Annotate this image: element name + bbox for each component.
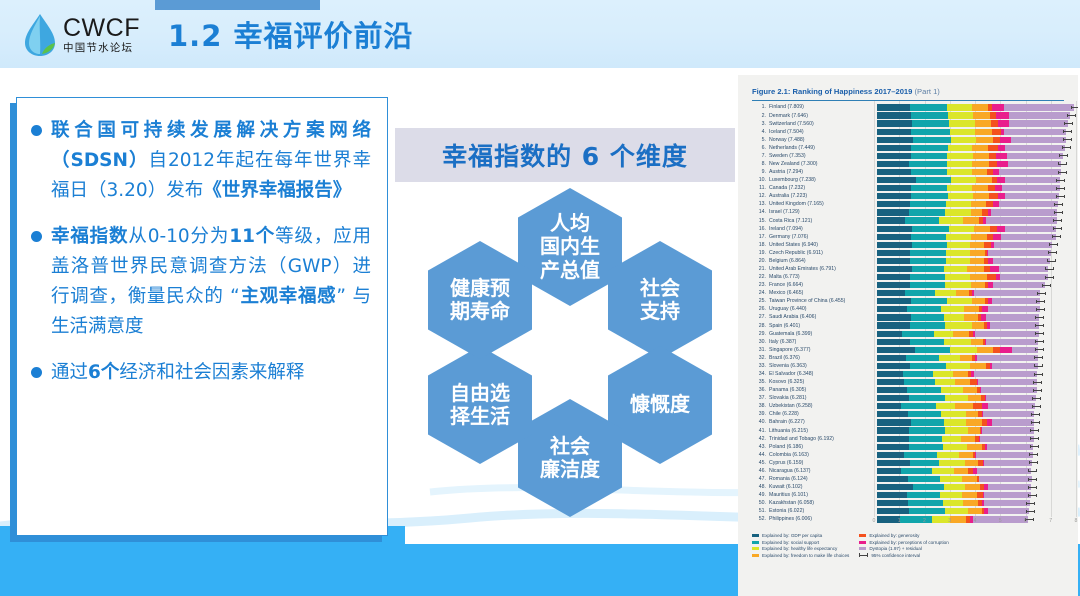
bar-segment	[911, 129, 950, 135]
hex-generosity-label: 慷慨度	[630, 393, 690, 416]
bar-segment	[941, 411, 966, 417]
bar-segment	[937, 452, 958, 458]
row-country-label: France (6.664)	[769, 282, 877, 288]
row-rank: 28.	[752, 323, 769, 329]
row-bar	[877, 339, 1064, 345]
bar-segment	[913, 484, 945, 490]
bar-segment	[877, 347, 915, 353]
bar-segment	[947, 153, 973, 159]
chart-row: 13.United Kingdom (7.165)	[752, 200, 1064, 208]
bar-segment	[988, 403, 1035, 409]
bar-segment	[877, 355, 906, 361]
happiness-chart-panel: Figure 2.1: Ranking of Happiness 2017–20…	[738, 75, 1078, 596]
legend-item-ci: 95% confidence interval	[859, 553, 948, 558]
row-rank: 2.	[752, 113, 769, 119]
chart-row: 44.Colombia (6.163)	[752, 451, 1064, 459]
bar-segment	[944, 484, 965, 490]
confidence-interval-marker	[1028, 469, 1037, 472]
row-rank: 17.	[752, 234, 769, 240]
row-country-label: Kazakhstan (6.058)	[769, 500, 877, 506]
bar-segment	[947, 298, 972, 304]
bar-segment	[911, 185, 947, 191]
bar-segment	[955, 379, 970, 385]
chart-legend-column-2: Explained by: generosityExplained by: pe…	[859, 533, 948, 558]
chart-row: 28.Spain (6.401)	[752, 322, 1064, 330]
row-rank: 13.	[752, 201, 769, 207]
bar-segment	[974, 371, 1038, 377]
legend-item: Explained by: healthy life expectancy	[752, 546, 849, 551]
bar-segment	[977, 355, 1038, 361]
row-country-label: Bahrain (6.227)	[769, 419, 877, 425]
row-country-label: Colombia (6.163)	[769, 452, 877, 458]
bar-segment	[972, 298, 985, 304]
bar-segment	[944, 266, 966, 272]
confidence-interval-marker	[1031, 421, 1040, 424]
row-rank: 48.	[752, 484, 769, 490]
bar-segment	[959, 452, 973, 458]
bar-segment	[877, 274, 910, 280]
bar-segment	[989, 161, 997, 167]
chart-plot-area: 1.Finland (7.809)2.Denmark (7.646)3.Swit…	[752, 101, 1064, 531]
chart-row: 49.Mauritius (6.101)	[752, 491, 1064, 499]
bar-segment	[877, 169, 911, 175]
bar-segment	[908, 411, 942, 417]
bar-segment	[909, 427, 945, 433]
row-country-label: Mexico (6.465)	[769, 290, 877, 296]
bar-segment	[905, 290, 935, 296]
confidence-interval-marker	[1028, 478, 1037, 481]
cwcf-logo: CWCF 中国节水论坛	[22, 10, 162, 60]
bar-segment	[962, 492, 977, 498]
bar-segment	[968, 395, 981, 401]
bar-segment	[877, 266, 912, 272]
bar-segment	[970, 274, 986, 280]
confidence-interval-marker	[1026, 502, 1035, 505]
bar-segment	[951, 137, 976, 143]
row-rank: 33.	[752, 363, 769, 369]
confidence-interval-marker	[1035, 340, 1044, 343]
chart-row: 11.Canada (7.232)	[752, 184, 1064, 192]
legend-label: Explained by: freedom to make life choic…	[762, 553, 849, 558]
bar-segment	[987, 274, 996, 280]
bar-segment	[999, 201, 1058, 207]
chart-row: 30.Italy (6.387)	[752, 338, 1064, 346]
confidence-interval-marker	[1063, 138, 1072, 141]
row-rank: 37.	[752, 395, 769, 401]
row-country-label: Taiwan Province of China (6.455)	[769, 298, 877, 304]
bar-segment	[971, 282, 985, 288]
bar-segment	[997, 177, 1005, 183]
bar-segment	[991, 120, 998, 126]
chart-row: 21.United Arab Emirates (6.791)	[752, 265, 1064, 273]
bar-segment	[1004, 104, 1074, 110]
bar-segment	[877, 468, 901, 474]
logo-subtitle: 中国节水论坛	[63, 43, 140, 54]
row-bar	[877, 314, 1064, 320]
bar-segment	[910, 274, 945, 280]
confidence-interval-marker	[1035, 324, 1044, 327]
row-rank: 29.	[752, 331, 769, 337]
row-rank: 31.	[752, 347, 769, 353]
chart-row: 24.Mexico (6.465)	[752, 289, 1064, 297]
hex-freedom[interactable]: 自由选择生活	[428, 346, 532, 464]
bar-segment	[1011, 137, 1066, 143]
row-bar	[877, 274, 1064, 280]
logo-text-block: CWCF 中国节水论坛	[63, 16, 140, 54]
bar-segment	[946, 234, 971, 240]
row-rank: 41.	[752, 428, 769, 434]
row-country-label: Austria (7.294)	[769, 169, 877, 175]
bar-segment	[909, 209, 944, 215]
chart-row: 17.Germany (7.076)	[752, 233, 1064, 241]
row-bar	[877, 201, 1064, 207]
chart-row: 42.Trinidad and Tobago (6.192)	[752, 435, 1064, 443]
bar-segment	[877, 339, 910, 345]
confidence-interval-marker	[1063, 130, 1072, 133]
confidence-interval-marker	[1049, 243, 1058, 246]
row-bar	[877, 282, 1064, 288]
row-country-label: Singapore (6.377)	[769, 347, 877, 353]
bar-segment	[992, 363, 1038, 369]
bar-segment	[904, 452, 937, 458]
row-bar	[877, 403, 1064, 409]
row-bar	[877, 444, 1064, 450]
legend-item: Explained by: freedom to make life choic…	[752, 553, 849, 558]
bar-segment	[877, 258, 910, 264]
bar-segment	[963, 500, 978, 506]
bar-segment	[971, 209, 983, 215]
bar-segment	[964, 314, 978, 320]
hex-health[interactable]: 健康预期寿命	[428, 241, 532, 359]
row-country-label: Ireland (7.094)	[769, 226, 877, 232]
bar-segment	[912, 120, 949, 126]
bar-segment	[911, 234, 946, 240]
bar-segment	[877, 387, 907, 393]
bar-segment	[986, 395, 1035, 401]
bar-segment	[940, 492, 962, 498]
row-country-label: Canada (7.232)	[769, 185, 877, 191]
bar-segment	[984, 500, 1030, 506]
row-rank: 50.	[752, 500, 769, 506]
bar-segment	[973, 153, 990, 159]
bar-segment	[968, 427, 980, 433]
row-rank: 32.	[752, 355, 769, 361]
bar-segment	[948, 193, 974, 199]
bullet-dot-icon	[31, 367, 42, 378]
chart-title-part: (Part 1)	[915, 87, 940, 96]
bar-segment	[965, 484, 979, 490]
hex-health-label: 健康预期寿命	[450, 277, 510, 323]
confidence-interval-marker	[1028, 486, 1037, 489]
bar-segment	[971, 234, 986, 240]
bar-segment	[911, 153, 948, 159]
bar-segment	[993, 234, 1001, 240]
bar-segment	[992, 104, 1004, 110]
confidence-interval-marker	[1056, 187, 1065, 190]
row-country-label: Luxembourg (7.238)	[769, 177, 877, 183]
bar-segment	[976, 452, 1033, 458]
row-rank: 40.	[752, 419, 769, 425]
hex-social[interactable]: 社会支持	[608, 241, 712, 359]
bar-segment	[995, 185, 1002, 191]
row-rank: 45.	[752, 460, 769, 466]
bullet-sdsn-text: 联合国可持续发展解决方案网络（SDSN）自2012年起在每年世界幸福日（3.20…	[51, 116, 371, 206]
bar-segment	[950, 347, 977, 353]
hex-gdp[interactable]: 人均国内生产总值	[518, 188, 622, 306]
bar-segment	[977, 347, 993, 353]
row-rank: 16.	[752, 226, 769, 232]
bar-segment	[998, 193, 1006, 199]
bar-segment	[991, 209, 1057, 215]
legend-item: Explained by: GDP per capita	[752, 533, 849, 538]
confidence-interval-marker	[1036, 308, 1045, 311]
chart-row: 3.Switzerland (7.560)	[752, 120, 1064, 128]
bar-segment	[877, 322, 910, 328]
bar-segment	[877, 452, 904, 458]
bar-segment	[944, 314, 964, 320]
bar-segment	[948, 145, 973, 151]
bar-segment	[973, 193, 989, 199]
row-rank: 49.	[752, 492, 769, 498]
bar-segment	[986, 314, 1039, 320]
row-country-label: Philippines (6.006)	[769, 516, 877, 522]
legend-label: Dystopia (1.97) + residual	[869, 546, 921, 551]
bar-segment	[877, 331, 902, 337]
row-bar	[877, 234, 1064, 240]
confidence-interval-marker	[1034, 356, 1043, 359]
bar-segment	[988, 484, 1031, 490]
bar-segment	[945, 427, 967, 433]
legend-label: Explained by: social support	[762, 540, 819, 545]
bullet-factors: 通过6个经济和社会因素来解释	[31, 358, 371, 388]
legend-ci-swatch	[859, 553, 868, 557]
bar-segment	[877, 193, 911, 199]
row-rank: 39.	[752, 411, 769, 417]
row-bar	[877, 137, 1066, 143]
bar-segment	[877, 242, 912, 248]
chart-row: 36.Panama (6.305)	[752, 386, 1064, 394]
bar-segment	[877, 104, 910, 110]
row-bar	[877, 371, 1064, 377]
row-rank: 38.	[752, 403, 769, 409]
bar-segment	[988, 185, 995, 191]
chart-legend-column-1: Explained by: GDP per capitaExplained by…	[752, 533, 849, 558]
chart-x-axis: 012345678	[874, 518, 1064, 531]
hex-panel-heading-text: 幸福指数的 6 个维度	[442, 137, 688, 173]
row-bar	[877, 161, 1064, 167]
row-bar	[877, 298, 1064, 304]
bar-segment	[877, 395, 909, 401]
row-country-label: Chile (6.228)	[769, 411, 877, 417]
row-bar	[877, 379, 1064, 385]
row-bar	[877, 242, 1064, 248]
row-bar	[877, 120, 1068, 126]
bar-segment	[972, 322, 984, 328]
bar-segment	[908, 500, 944, 506]
row-bar	[877, 508, 1064, 514]
row-country-label: New Zealand (7.300)	[769, 161, 877, 167]
row-rank: 30.	[752, 339, 769, 345]
bar-segment	[910, 258, 945, 264]
row-bar	[877, 169, 1064, 175]
bar-segment	[961, 436, 975, 442]
bar-segment	[988, 145, 997, 151]
row-country-label: Iceland (7.504)	[769, 129, 877, 135]
row-bar	[877, 460, 1064, 466]
chart-row: 50.Kazakhstan (6.058)	[752, 499, 1064, 507]
row-rank: 15.	[752, 218, 769, 224]
bar-segment	[997, 161, 1008, 167]
bar-segment	[877, 508, 909, 514]
bar-segment	[972, 104, 989, 110]
row-country-label: El Salvador (6.348)	[769, 371, 877, 377]
chart-row: 46.Nicaragua (6.137)	[752, 467, 1064, 475]
bar-segment	[877, 185, 911, 191]
bar-segment	[911, 193, 948, 199]
bar-segment	[982, 427, 1034, 433]
confidence-interval-marker	[1062, 146, 1071, 149]
row-bar	[877, 484, 1064, 490]
bar-segment	[909, 395, 945, 401]
bar-segment	[916, 177, 951, 183]
legend-swatch	[859, 541, 866, 544]
bar-segment	[877, 129, 911, 135]
bar-segment	[935, 379, 955, 385]
row-country-label: Cyprus (6.159)	[769, 460, 877, 466]
bar-segment	[972, 169, 987, 175]
bar-segment	[1005, 193, 1059, 199]
bar-segment	[976, 137, 993, 143]
bar-segment	[986, 201, 993, 207]
confidence-interval-marker	[1042, 284, 1051, 287]
x-tick-label: 5	[999, 518, 1002, 524]
row-country-label: Netherlands (7.449)	[769, 145, 877, 151]
bar-segment	[915, 347, 950, 353]
legend-item: Explained by: social support	[752, 540, 849, 545]
bar-segment	[945, 274, 971, 280]
row-bar	[877, 226, 1064, 232]
x-tick-label: 6	[1024, 518, 1027, 524]
confidence-interval-marker	[1030, 445, 1039, 448]
bar-segment	[963, 217, 979, 223]
legend-swatch	[859, 547, 866, 550]
chart-row: 48.Kuwait (6.102)	[752, 483, 1064, 491]
bullet-list: 联合国可持续发展解决方案网络（SDSN）自2012年起在每年世界幸福日（3.20…	[31, 116, 371, 388]
row-bar	[877, 185, 1064, 191]
bar-segment	[975, 129, 992, 135]
row-country-label: Finland (7.809)	[769, 104, 877, 110]
chart-row: 15.Costa Rica (7.121)	[752, 216, 1064, 224]
bar-segment	[1005, 145, 1065, 151]
bar-segment	[980, 436, 1034, 442]
bar-segment	[910, 201, 946, 207]
row-rank: 11.	[752, 185, 769, 191]
chart-row: 5.Norway (7.488)	[752, 136, 1064, 144]
bar-segment	[970, 250, 984, 256]
bar-segment	[976, 177, 992, 183]
row-country-label: Trinidad and Tobago (6.192)	[769, 436, 877, 442]
bar-segment	[990, 322, 1039, 328]
confidence-interval-marker	[1026, 510, 1035, 513]
bar-segment	[997, 226, 1005, 232]
hex-corruption[interactable]: 社会廉洁度	[518, 399, 622, 517]
confidence-interval-marker	[1045, 267, 1054, 270]
bar-segment	[962, 476, 977, 482]
row-rank: 19.	[752, 250, 769, 256]
row-country-label: Norway (7.488)	[769, 137, 877, 143]
confidence-interval-marker	[1048, 251, 1057, 254]
bar-segment	[984, 242, 991, 248]
row-bar	[877, 387, 1064, 393]
bar-segment	[909, 161, 947, 167]
confidence-interval-marker	[1059, 154, 1068, 157]
bar-segment	[910, 322, 946, 328]
bar-segment	[966, 419, 982, 425]
bar-segment	[943, 444, 967, 450]
bar-segment	[1002, 185, 1059, 191]
row-country-label: Spain (6.401)	[769, 323, 877, 329]
hex-generosity[interactable]: 慷慨度	[608, 346, 712, 464]
x-tick-label: 3	[948, 518, 951, 524]
bar-segment	[988, 508, 1029, 514]
gridline	[1076, 101, 1077, 517]
bar-segment	[909, 436, 943, 442]
bar-segment	[950, 129, 975, 135]
chart-row: 25.Taiwan Province of China (6.455)	[752, 297, 1064, 305]
row-bar	[877, 104, 1074, 110]
chart-row: 47.Romania (6.124)	[752, 475, 1064, 483]
bar-segment	[877, 217, 905, 223]
row-rank: 12.	[752, 193, 769, 199]
confidence-interval-marker	[1053, 227, 1062, 230]
bar-segment	[904, 379, 935, 385]
row-rank: 24.	[752, 290, 769, 296]
water-drop-leaf-icon	[22, 12, 58, 58]
bar-segment	[1000, 274, 1048, 280]
hex-diagram: 人均国内生产总值 社会支持 慷慨度 社会廉洁度 自由选择生活 健康预期寿命	[400, 185, 740, 525]
bar-segment	[970, 379, 977, 385]
bar-segment	[940, 476, 962, 482]
confidence-interval-marker	[1054, 203, 1063, 206]
bar-segment	[967, 266, 984, 272]
chart-row: 12.Australia (7.223)	[752, 192, 1064, 200]
bar-segment	[989, 153, 996, 159]
bar-segment	[983, 411, 1034, 417]
chart-title-main: Figure 2.1: Ranking of Happiness 2017–20…	[752, 87, 912, 96]
bullet-factors-text: 通过6个经济和社会因素来解释	[51, 358, 304, 388]
bar-segment	[907, 387, 941, 393]
confidence-interval-marker	[1036, 300, 1045, 303]
bar-segment	[877, 484, 913, 490]
bar-segment	[999, 266, 1048, 272]
bar-segment	[967, 444, 982, 450]
row-country-label: Uruguay (6.440)	[769, 306, 877, 312]
bar-segment	[1007, 153, 1062, 159]
chart-row: 40.Bahrain (6.227)	[752, 418, 1064, 426]
bar-segment	[1005, 226, 1056, 232]
bar-segment	[988, 306, 1039, 312]
row-bar	[877, 476, 1064, 482]
row-country-label: Malta (6.773)	[769, 274, 877, 280]
row-bar	[877, 129, 1066, 135]
row-country-label: Guatemala (6.399)	[769, 331, 877, 337]
confidence-interval-marker	[1056, 179, 1065, 182]
bar-segment	[877, 306, 907, 312]
row-country-label: Germany (7.076)	[769, 234, 877, 240]
chart-title: Figure 2.1: Ranking of Happiness 2017–20…	[752, 87, 1070, 96]
row-bar	[877, 112, 1070, 118]
bar-segment	[877, 476, 908, 482]
